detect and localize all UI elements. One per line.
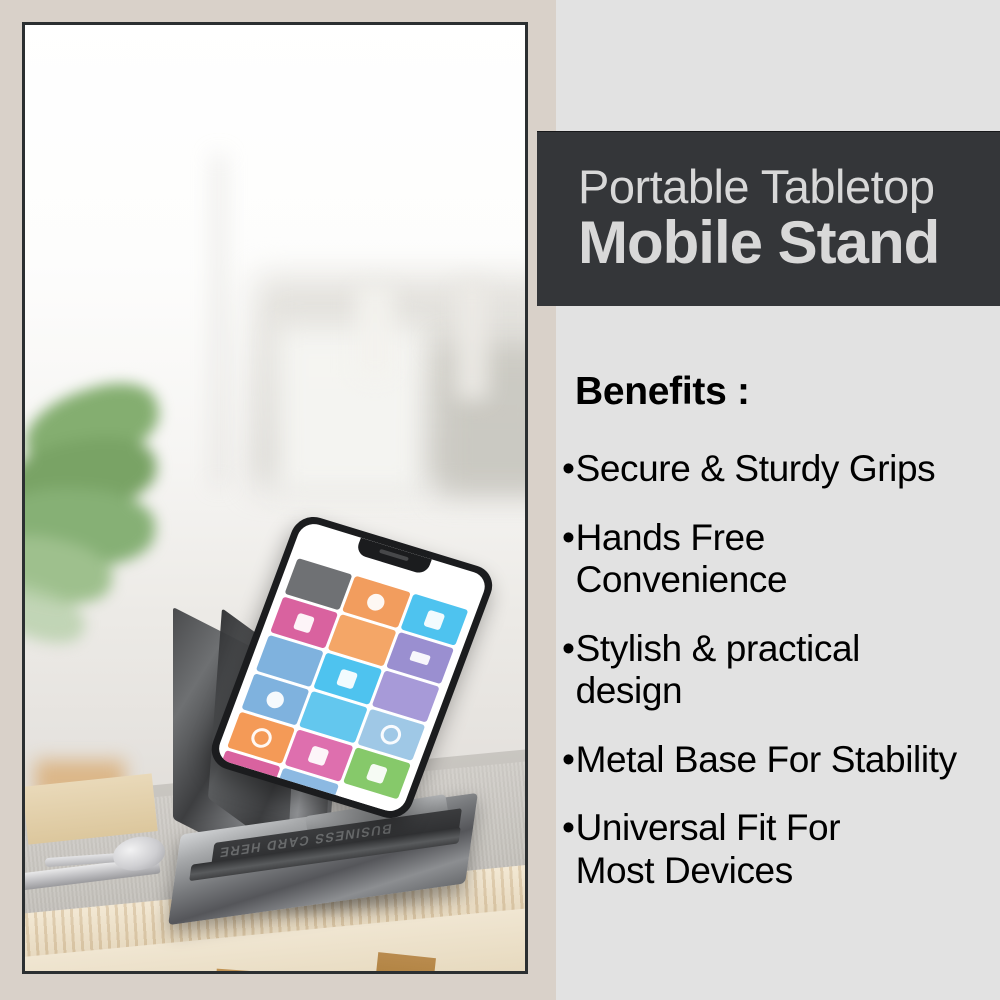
gear-icon (264, 689, 286, 710)
benefits-list: •Secure & Sturdy Grips•Hands Free Conven… (575, 448, 995, 892)
product-photo: BUSINESS CARD HERE (22, 22, 528, 974)
camera-icon (366, 763, 388, 784)
wall-edge (215, 155, 223, 485)
benefit-item: •Stylish & practical design (562, 628, 982, 713)
title-line-1: Portable Tabletop (578, 163, 1000, 211)
bullet-icon: • (562, 448, 575, 491)
benefit-label: Stylish & practical design (576, 628, 906, 713)
contact-icon (293, 612, 315, 633)
undo-icon (248, 726, 274, 751)
bullet-icon: • (562, 739, 575, 782)
shelf-panel-left (275, 325, 425, 495)
card-icon (337, 668, 359, 689)
benefit-item: •Secure & Sturdy Grips (562, 448, 982, 491)
title-banner: Portable Tabletop Mobile Stand (537, 131, 1000, 306)
coin-icon (378, 723, 404, 748)
share-icon (365, 591, 387, 612)
decor-jar (355, 285, 395, 380)
benefit-item: •Metal Base For Stability (562, 739, 982, 782)
benefit-label: Universal Fit For Most Devices (576, 807, 906, 892)
bullet-icon: • (562, 628, 575, 671)
phone-speaker (379, 549, 409, 562)
infographic-page: BUSINESS CARD HERE Portable Tabletop (0, 0, 1000, 1000)
media-icon (423, 609, 445, 630)
benefit-item: •Hands Free Convenience (562, 517, 982, 602)
chart-icon (409, 651, 431, 666)
photo-scene: BUSINESS CARD HERE (25, 25, 525, 971)
benefit-label: Metal Base For Stability (576, 739, 982, 782)
person-icon (308, 745, 330, 766)
benefits-section: Benefits : •Secure & Sturdy Grips•Hands … (575, 370, 995, 918)
benefits-heading: Benefits : (575, 370, 995, 414)
benefit-label: Secure & Sturdy Grips (576, 448, 982, 491)
benefit-item: •Universal Fit For Most Devices (562, 807, 982, 892)
bullet-icon: • (562, 807, 575, 850)
title-line-2: Mobile Stand (578, 212, 1000, 274)
decor-vase (455, 280, 489, 400)
bullet-icon: • (562, 517, 575, 560)
benefit-label: Hands Free Convenience (576, 517, 982, 602)
